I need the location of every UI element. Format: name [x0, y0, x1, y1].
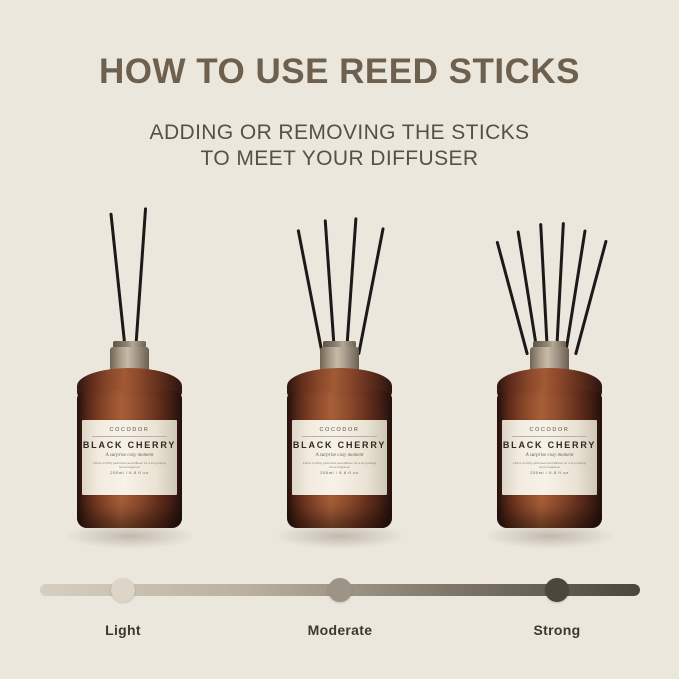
label-divider	[92, 436, 167, 437]
label-divider	[512, 436, 587, 437]
bottle-label: COCODOR BLACK CHERRY A surprise cozy mom…	[82, 420, 177, 495]
reed-stick	[297, 229, 324, 355]
label-brand: COCODOR	[502, 427, 597, 433]
label-brand: COCODOR	[82, 427, 177, 433]
label-divider	[302, 436, 377, 437]
label-product-name: BLACK CHERRY	[292, 440, 387, 450]
reed-stick	[357, 227, 385, 355]
infographic-canvas: HOW TO USE REED STICKS ADDING OR REMOVIN…	[0, 0, 679, 679]
label-fine-print: 120ml of richly perfumed reed diffuser f…	[502, 461, 597, 470]
reed-stick	[324, 219, 336, 353]
label-product-name: BLACK CHERRY	[502, 440, 597, 450]
intensity-knob-light[interactable]	[111, 578, 135, 602]
page-title: HOW TO USE REED STICKS	[0, 52, 679, 92]
reed-stick	[109, 213, 127, 353]
label-volume: 200ml / 6.8 fl.oz	[82, 470, 177, 475]
reed-stick	[345, 217, 357, 353]
subtitle-line-1: ADDING OR REMOVING THE STICKS	[150, 121, 530, 144]
label-product-name: BLACK CHERRY	[82, 440, 177, 450]
reed-stick	[555, 222, 565, 354]
intensity-label-moderate: Moderate	[270, 622, 410, 638]
intensity-knob-moderate[interactable]	[328, 578, 352, 602]
intensity-knob-strong[interactable]	[545, 578, 569, 602]
bottle-label: COCODOR BLACK CHERRY A surprise cozy mom…	[292, 420, 387, 495]
label-volume: 200ml / 6.8 fl.oz	[502, 470, 597, 475]
label-volume: 200ml / 6.8 fl.oz	[292, 470, 387, 475]
label-fine-print: 120ml of richly perfumed reed diffuser f…	[82, 461, 177, 470]
bottle-label: COCODOR BLACK CHERRY A surprise cozy mom…	[502, 420, 597, 495]
label-fine-print: 120ml of richly perfumed reed diffuser f…	[292, 461, 387, 470]
intensity-label-light: Light	[53, 622, 193, 638]
label-tagline: A surprise cozy moment	[82, 453, 177, 458]
diffuser-bottle-moderate: COCODOR BLACK CHERRY A surprise cozy mom…	[272, 205, 407, 550]
label-tagline: A surprise cozy moment	[502, 453, 597, 458]
subtitle-line-2: TO MEET YOUR DIFFUSER	[0, 146, 679, 172]
diffuser-bottle-strong: COCODOR BLACK CHERRY A surprise cozy mom…	[482, 205, 617, 550]
reed-stick	[539, 223, 549, 354]
diffuser-bottle-light: COCODOR BLACK CHERRY A surprise cozy mom…	[62, 205, 197, 550]
intensity-label-strong: Strong	[487, 622, 627, 638]
reed-stick	[134, 207, 147, 352]
label-brand: COCODOR	[292, 427, 387, 433]
page-subtitle: ADDING OR REMOVING THE STICKS TO MEET YO…	[0, 120, 679, 172]
reed-stick	[564, 229, 587, 354]
label-tagline: A surprise cozy moment	[292, 453, 387, 458]
